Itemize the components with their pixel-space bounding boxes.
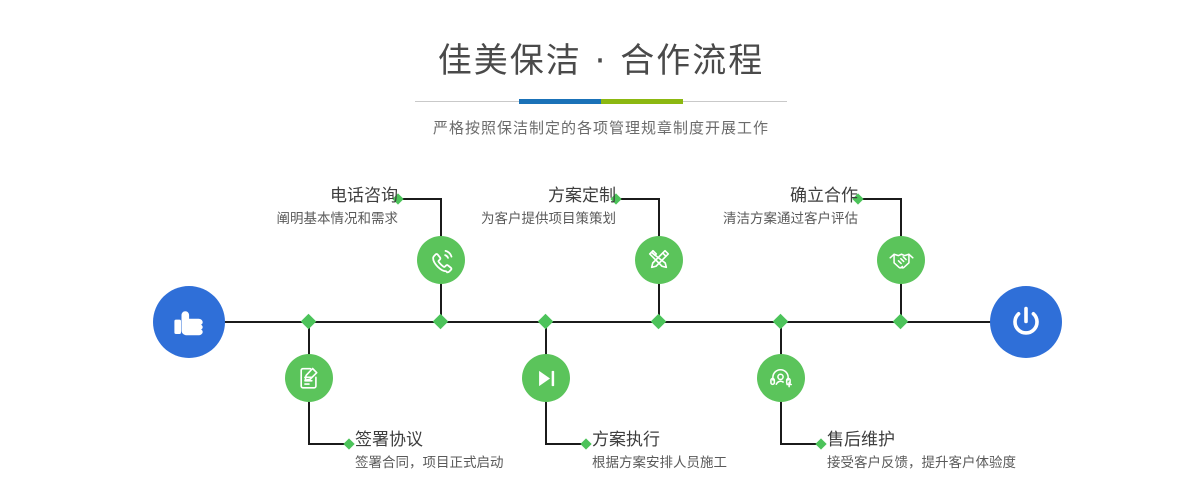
- step-6-icon-badge: [757, 354, 805, 402]
- phone-call-icon: [428, 247, 455, 274]
- step-2-icon-badge: [285, 354, 333, 402]
- step-6-title: 售后维护: [827, 430, 1016, 450]
- step-2-label: 签署协议 签署合同，项目正式启动: [355, 430, 504, 473]
- timeline-start-node: [153, 286, 225, 358]
- step-4-title: 方案执行: [592, 430, 727, 450]
- timeline: 电话咨询 阐明基本情况和需求 签署协议 签署合同，项目正式启动: [0, 0, 1202, 502]
- step-5-desc: 清洁方案通过客户评估: [723, 210, 858, 228]
- step-5-title: 确立合作: [723, 186, 858, 206]
- step-3-title: 方案定制: [481, 186, 616, 206]
- timeline-end-node: [990, 286, 1062, 358]
- step-3-icon-badge: [635, 236, 683, 284]
- cooperation-flow-infographic: 佳美保洁 · 合作流程 严格按照保洁制定的各项管理规章制度开展工作: [0, 0, 1202, 502]
- step-6-desc: 接受客户反馈，提升客户体验度: [827, 454, 1016, 472]
- step-3-axis-marker: [651, 314, 667, 330]
- pencil-ruler-icon: [646, 247, 672, 273]
- step-3-desc: 为客户提供项目策策划: [481, 210, 616, 228]
- headset-support-icon: [768, 365, 794, 391]
- play-skip-icon: [534, 366, 559, 391]
- step-3-connector: [618, 198, 659, 200]
- step-2-axis-marker: [301, 314, 317, 330]
- step-1-icon-badge: [417, 236, 465, 284]
- step-2-desc: 签署合同，项目正式启动: [355, 454, 504, 472]
- step-5-connector: [860, 198, 901, 200]
- step-4-icon-badge: [522, 354, 570, 402]
- pointing-hand-icon: [169, 302, 209, 342]
- step-6-label-marker: [815, 438, 826, 449]
- step-4-label: 方案执行 根据方案安排人员施工: [592, 430, 727, 473]
- handshake-icon: [888, 247, 915, 274]
- step-6-label: 售后维护 接受客户反馈，提升客户体验度: [827, 430, 1016, 473]
- step-1-connector: [400, 198, 441, 200]
- step-2-title: 签署协议: [355, 430, 504, 450]
- step-2-label-marker: [343, 438, 354, 449]
- document-edit-icon: [296, 365, 322, 391]
- step-1-axis-marker: [433, 314, 449, 330]
- step-5-axis-marker: [893, 314, 909, 330]
- power-icon: [1006, 302, 1046, 342]
- step-1-title: 电话咨询: [277, 186, 399, 206]
- step-1-label: 电话咨询 阐明基本情况和需求: [277, 186, 399, 229]
- step-5-label: 确立合作 清洁方案通过客户评估: [723, 186, 858, 229]
- step-4-label-marker: [580, 438, 591, 449]
- step-5-icon-badge: [877, 236, 925, 284]
- step-1-desc: 阐明基本情况和需求: [277, 210, 399, 228]
- step-4-axis-marker: [538, 314, 554, 330]
- step-3-label: 方案定制 为客户提供项目策策划: [481, 186, 616, 229]
- step-4-desc: 根据方案安排人员施工: [592, 454, 727, 472]
- step-6-axis-marker: [773, 314, 789, 330]
